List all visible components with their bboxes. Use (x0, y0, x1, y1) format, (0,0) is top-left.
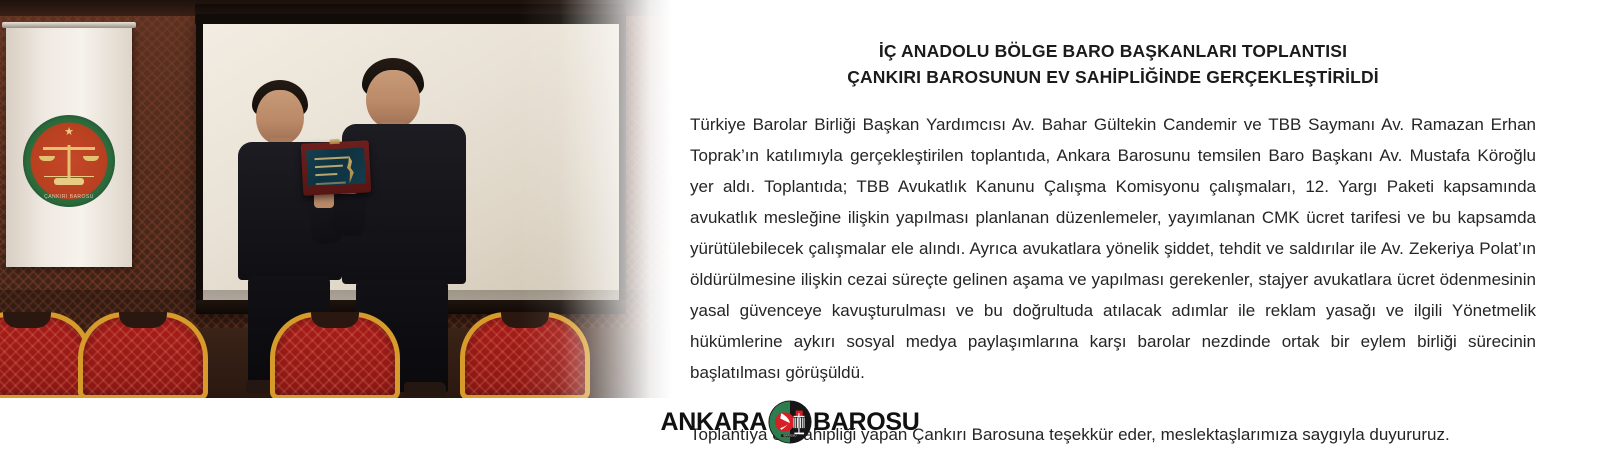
banner-emblem-label: ÇANKIRI BAROSU (23, 194, 115, 200)
plaque-engraving-line (316, 182, 346, 186)
svg-text:BAROSU: BAROSU (784, 434, 797, 438)
scale-base-icon (54, 178, 84, 185)
banquet-chair (270, 312, 400, 398)
plaque-emblem-icon (343, 155, 356, 184)
banquet-chair (78, 312, 208, 398)
scale-pan-right-icon (83, 156, 99, 161)
plaque-plate (306, 148, 366, 187)
article-photo: ★ ÇANKIRI BAROSU (0, 0, 700, 398)
banquet-chair (460, 312, 590, 398)
plaque-engraving-line (315, 173, 337, 176)
article-content: İÇ ANADOLU BÖLGE BARO BAŞKANLARI TOPLANT… (690, 0, 1536, 450)
commemorative-plaque (301, 140, 372, 195)
plaque-engraving-line (315, 165, 343, 168)
plaque-engraving-line (314, 156, 348, 160)
article-paragraph: Türkiye Barolar Birliği Başkan Yardımcıs… (690, 109, 1536, 388)
banner-emblem-icon: ★ ÇANKIRI BAROSU (23, 115, 115, 207)
headline-line-1: İÇ ANADOLU BÖLGE BARO BAŞKANLARI TOPLANT… (690, 38, 1536, 64)
head (256, 90, 304, 144)
photo-scene: ★ ÇANKIRI BAROSU (0, 0, 700, 398)
article-headline: İÇ ANADOLU BÖLGE BARO BAŞKANLARI TOPLANT… (690, 38, 1536, 90)
shoe-right (404, 382, 446, 396)
logo-word-barosu: BAROSU (813, 410, 920, 435)
plaque-clasp (329, 139, 339, 145)
bar-association-banner: ★ ÇANKIRI BAROSU (6, 27, 132, 267)
headline-line-2: ÇANKIRI BAROSUNUN EV SAHİPLİĞİNDE GERÇEK… (690, 64, 1536, 90)
scale-pan-left-icon (39, 156, 55, 161)
head (366, 70, 420, 128)
ankara-barosu-emblem-icon: BAROSU (768, 400, 812, 444)
news-article-page: ★ ÇANKIRI BAROSU (0, 0, 1600, 458)
banner-star-icon: ★ (64, 127, 74, 138)
logo-word-ankara: ANKARA (660, 410, 767, 435)
ankara-barosu-logo: ANKARA BAROSU BARO (690, 399, 890, 445)
banner-rod (2, 22, 136, 28)
